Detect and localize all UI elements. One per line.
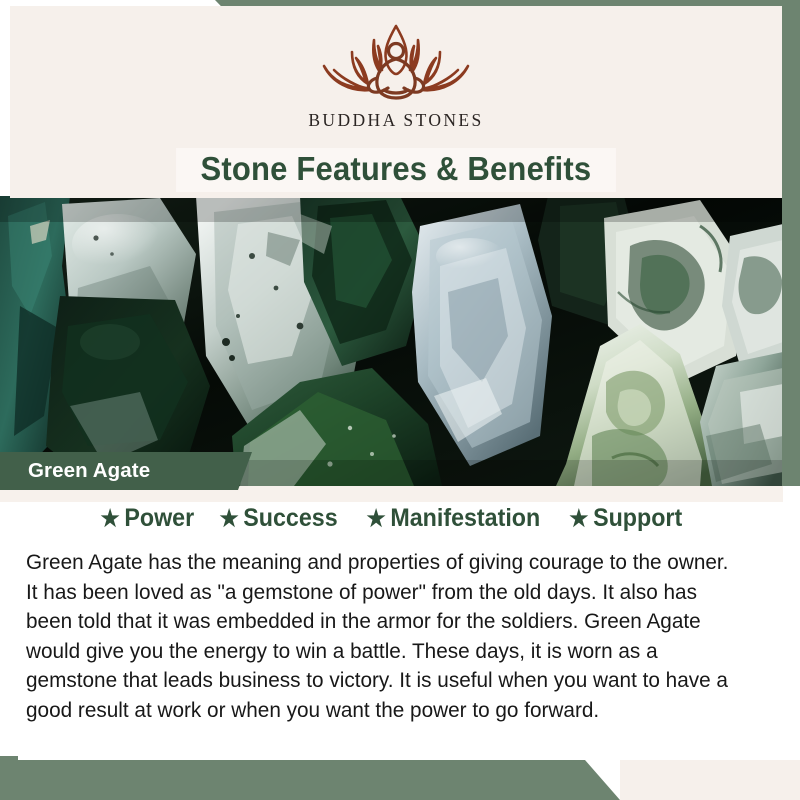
star-icon: ★ [367, 507, 386, 530]
feature-item-success: ★ Success [220, 504, 338, 533]
header-panel: BUDDHA STONES Stone Features & Benefits [10, 6, 782, 198]
green-agate-stones-illustration [0, 196, 783, 486]
stone-name-banner: Green Agate [0, 452, 252, 490]
star-icon: ★ [100, 507, 119, 530]
feature-label: Success [243, 504, 337, 533]
star-icon: ★ [569, 507, 588, 530]
content-section: ★ Power ★ Success ★ Manifestation ★ Supp… [0, 486, 800, 756]
brand-name: BUDDHA STONES [308, 110, 483, 131]
star-icon: ★ [220, 507, 239, 530]
description-paragraph: Green Agate has the meaning and properti… [26, 548, 740, 725]
feature-item-support: ★ Support [569, 504, 682, 533]
lotus-meditation-figure-icon [308, 20, 484, 106]
feature-item-manifestation: ★ Manifestation [367, 504, 541, 533]
feature-item-power: ★ Power [100, 504, 194, 533]
frame-bottom-cream-corner [620, 760, 800, 800]
hero-photo [0, 196, 783, 486]
brand-logo: BUDDHA STONES [10, 20, 782, 131]
page-title: Stone Features & Benefits [176, 148, 616, 192]
page-title-band: Stone Features & Benefits [10, 148, 782, 192]
infographic-page: BUDDHA STONES Stone Features & Benefits … [0, 0, 800, 800]
feature-label: Power [124, 504, 194, 533]
feature-label: Manifestation [391, 504, 541, 533]
feature-list: ★ Power ★ Success ★ Manifestation ★ Supp… [0, 504, 783, 533]
stone-name-label: Green Agate [0, 459, 150, 483]
feature-label: Support [593, 504, 682, 533]
